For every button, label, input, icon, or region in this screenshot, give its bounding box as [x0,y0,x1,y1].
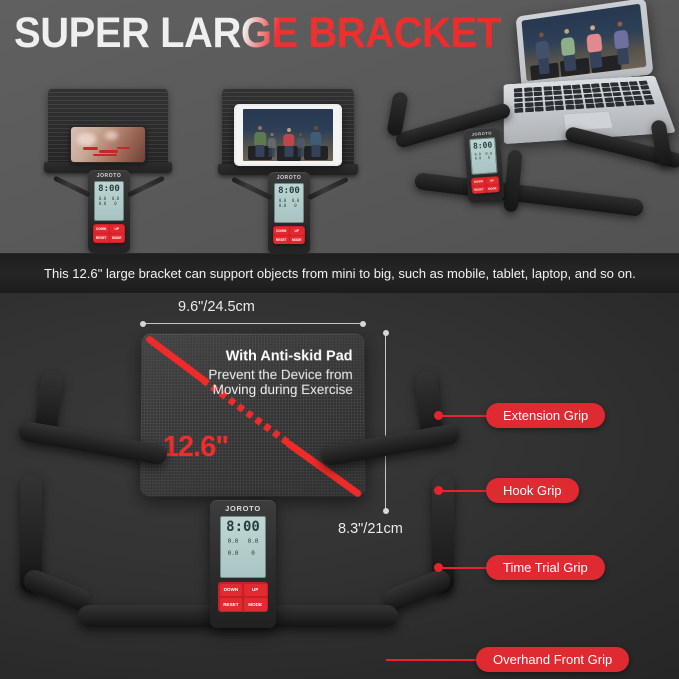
unit-laptop-bracket: JOROTO 8:00 0.0 0.0 0.0 0 DOWN UP RESET … [396,0,679,253]
key-mode[interactable]: MODE [290,236,305,244]
console-tablet-unit: JOROTO 8:00 0.0 0.0 0.0 0 DOWN UP RESET … [268,172,310,253]
phone-screen-content [71,127,145,162]
tablet-screen-content [243,109,333,161]
lcd-cell: 0 [243,550,263,557]
height-dimension-line [385,333,386,511]
product-infographic: SUPER LARGE BRACKET JOROTO 8:00 [0,0,679,679]
frame-leg [127,175,165,197]
console-keypad[interactable]: DOWN UP RESET MODE [471,176,500,194]
console-keypad[interactable]: DOWN UP RESET MODE [273,226,305,244]
pad-subtitle-line2: Moving during Exercise [213,382,353,397]
top-section: SUPER LARGE BRACKET JOROTO 8:00 [0,0,679,253]
lcd-cell: 0.0 [472,156,483,161]
callout-line-hook-grip [442,490,492,492]
key-mode[interactable]: MODE [244,598,267,611]
key-up[interactable]: UP [110,225,125,233]
callout-hook-grip[interactable]: Hook Grip [486,478,579,503]
lcd-cell: 0 [483,155,494,160]
key-down[interactable]: DOWN [274,227,289,235]
console-keypad[interactable]: DOWN UP RESET MODE [218,582,268,612]
console-lcd: 8:00 0.0 0.0 0.0 0 [220,516,266,578]
lcd-cell: 0 [109,201,122,206]
lcd-main-value: 8:00 [98,184,120,194]
key-mode[interactable]: MODE [110,234,125,242]
frame-leg [307,177,349,201]
width-dimension-label: 9.6"/24.5cm [178,299,255,315]
callout-extension-grip[interactable]: Extension Grip [486,403,605,428]
lcd-cell: 0.0 [276,203,289,208]
lcd-main-value: 8:00 [473,140,493,150]
lcd-cell: 0.0 [223,550,243,557]
key-reset[interactable]: RESET [220,598,243,611]
lcd-cell: 0.0 [223,538,243,545]
diagonal-size-label: 12.6" [163,431,229,464]
pad-subtitle-line1: Prevent the Device from [208,367,352,382]
key-down[interactable]: DOWN [94,225,109,233]
console-laptop-unit: JOROTO 8:00 0.0 0.0 0.0 0 DOWN UP RESET … [463,127,504,203]
handlebar-front-bar [414,172,644,217]
console-brand: JOROTO [225,504,261,513]
console-brand: JOROTO [97,173,122,179]
console-lcd: 8:00 0.0 0.0 0.0 0 [274,183,304,223]
callout-overhand-front-grip[interactable]: Overhand Front Grip [476,647,629,672]
key-reset[interactable]: RESET [472,186,485,194]
key-reset[interactable]: RESET [94,234,109,242]
callout-line-extension-grip [442,415,492,417]
console-brand: JOROTO [471,130,492,136]
console-lcd: 8:00 0.0 0.0 0.0 0 [94,181,124,221]
key-reset[interactable]: RESET [274,236,289,244]
key-up[interactable]: UP [485,177,498,185]
anti-skid-pad: With Anti-skid Pad Prevent the Device fr… [140,334,365,497]
unit-tablet-bracket: JOROTO 8:00 0.0 0.0 0.0 0 DOWN UP RESET … [218,88,358,253]
key-down[interactable]: DOWN [220,584,243,597]
device-tablet [234,104,342,166]
lcd-cell: 0.0 [243,538,263,545]
key-up[interactable]: UP [244,584,267,597]
console-lcd: 8:00 0.0 0.0 0.0 0 [469,137,497,175]
handlebar-stem [503,150,522,213]
laptop-screen-content [521,4,646,81]
console-phone-unit: JOROTO 8:00 0.0 0.0 0.0 0 DOWN UP RESET … [88,170,130,253]
lcd-cell: 0 [289,203,302,208]
laptop-keyboard [514,81,655,113]
key-down[interactable]: DOWN [472,178,485,186]
height-dimension-label: 8.3"/21cm [338,521,403,537]
callout-time-trial-grip[interactable]: Time Trial Grip [486,555,605,580]
banner-text: This 12.6" large bracket can support obj… [44,266,636,281]
callout-line-time-trial-grip [442,567,492,569]
lcd-main-value: 8:00 [278,186,300,196]
key-up[interactable]: UP [290,227,305,235]
main-console: JOROTO 8:00 0.0 0.0 0.0 0 DOWN UP RESET … [210,500,276,628]
console-brand: JOROTO [277,175,302,181]
pad-title: With Anti-skid Pad [226,349,353,365]
frame-leg [53,175,91,197]
width-dimension-line [143,323,363,324]
bottom-section: 9.6"/24.5cm 8.3"/21cm With Anti-skid Pad… [0,293,679,679]
console-keypad[interactable]: DOWN UP RESET MODE [93,224,125,243]
info-banner: This 12.6" large bracket can support obj… [0,253,679,293]
key-mode[interactable]: MODE [486,185,499,193]
frame-leg [231,177,273,201]
lcd-cell: 0.0 [96,201,109,206]
device-phone [70,126,146,163]
handlebar-left-grip [386,91,408,137]
unit-phone-bracket: JOROTO 8:00 0.0 0.0 0.0 0 DOWN UP RESET … [44,88,172,253]
lcd-main-value: 8:00 [223,519,263,535]
